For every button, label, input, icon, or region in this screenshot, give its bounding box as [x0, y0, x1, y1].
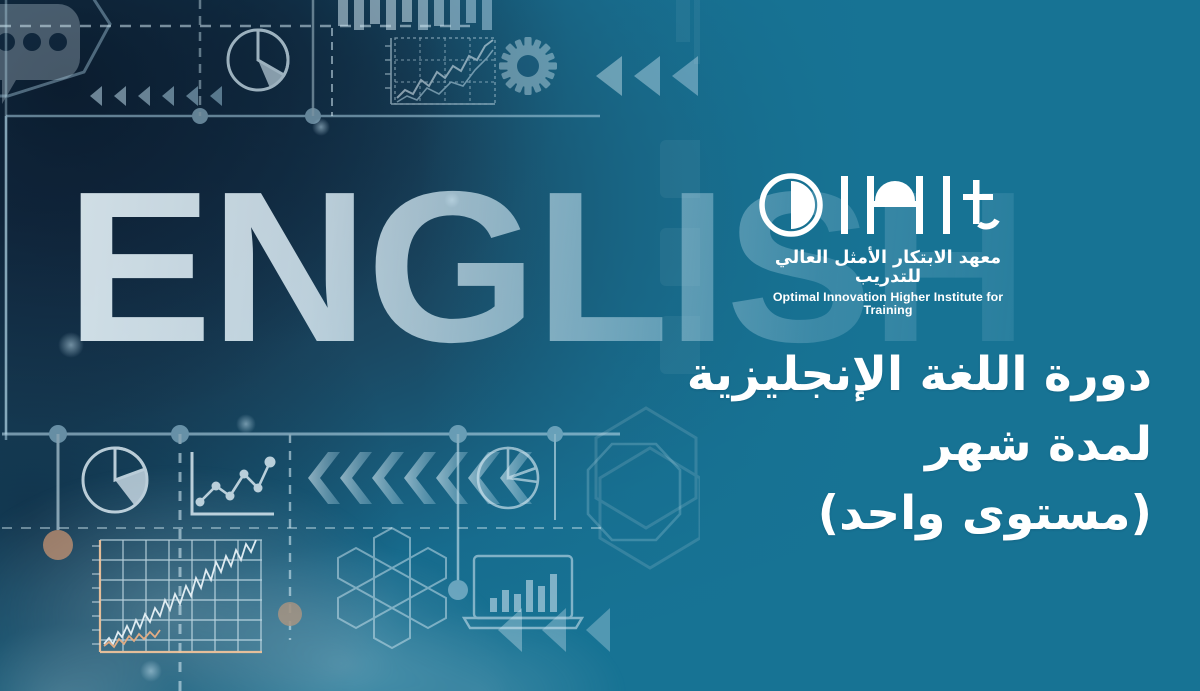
headline-line-2: لمدة شهر [692, 410, 1152, 480]
logo-mark-oihit [757, 172, 1019, 240]
logo-english-name: Optimal Innovation Higher Institute for … [757, 291, 1019, 318]
headline-block: دورة اللغة الإنجليزية لمدة شهر (مستوى وا… [692, 340, 1152, 549]
logo-t-glyph [963, 180, 997, 227]
headline-line-1: دورة اللغة الإنجليزية [692, 340, 1152, 410]
logo-mark-svg [757, 170, 1019, 240]
promo-banner: ENGLISH [0, 0, 1200, 691]
logo-o-glyph [762, 176, 820, 234]
logo-i-glyph-1 [841, 176, 848, 234]
logo-arabic-name: معهد الابتكار الأمثل العالي للتدريب [757, 249, 1019, 288]
logo-h-glyph [867, 176, 923, 234]
institute-logo: معهد الابتكار الأمثل العالي للتدريب Opti… [757, 172, 1019, 318]
logo-i-glyph-2 [943, 176, 950, 234]
headline-line-3: (مستوى واحد) [692, 479, 1152, 549]
